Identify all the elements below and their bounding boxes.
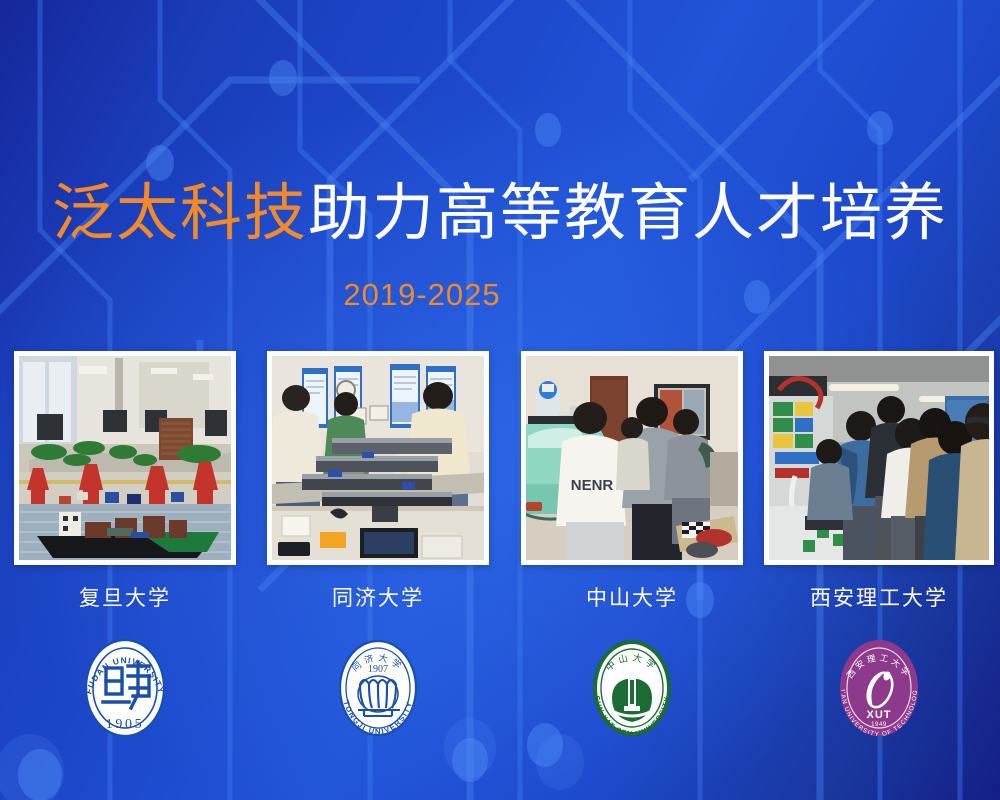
- tongji-year: 1907: [368, 664, 388, 675]
- xian-university-of-technology-crest: 西安理工大学 XUT 1949 XI'AN UNIVERSITY OF TECH…: [764, 632, 994, 744]
- fudan-year: 1905: [106, 717, 144, 732]
- poster-canvas: 泛太科技助力高等教育人才培养 2019-2025: [0, 0, 1000, 800]
- tongji-university-crest: 同济大学 1907 TONGJI UNIVERSITY: [267, 632, 489, 744]
- university-label-fudan: 复旦大学: [14, 582, 236, 612]
- svg-text:NENR: NENR: [571, 477, 614, 494]
- university-label-xut: 西安理工大学: [764, 582, 994, 612]
- photo-card-tongji[interactable]: [267, 351, 489, 565]
- photo-card-sysu[interactable]: NENR: [521, 351, 743, 565]
- photo-card-xut[interactable]: [764, 351, 994, 565]
- xut-year: 1949: [871, 722, 887, 728]
- title-rest: 助力高等教育人才培养: [308, 179, 948, 248]
- year-range: 2019-2025: [0, 277, 1000, 313]
- photo-row: NENR: [0, 351, 1000, 565]
- sun-yat-sen-university-crest: 中山大学 SUN YAT-SEN UNIVERSITY: [521, 632, 743, 744]
- university-label-tongji: 同济大学: [267, 582, 489, 612]
- fudan-university-crest: FUDAN UNIVERSITY 1905: [14, 632, 236, 744]
- university-label-sysu: 中山大学: [521, 582, 743, 612]
- xut-abbrev: XUT: [867, 709, 892, 721]
- photo-card-fudan[interactable]: [14, 351, 236, 565]
- page-title: 泛太科技助力高等教育人才培养: [0, 178, 1000, 250]
- autonomous-vehicle-lab-photo: NENR: [526, 356, 738, 560]
- brand-name: 泛太科技: [52, 179, 308, 248]
- port-logistics-scale-model-photo: [19, 356, 231, 560]
- industrial-workshop-visit-photo: [769, 356, 989, 560]
- automation-lab-bench-photo: [272, 356, 484, 560]
